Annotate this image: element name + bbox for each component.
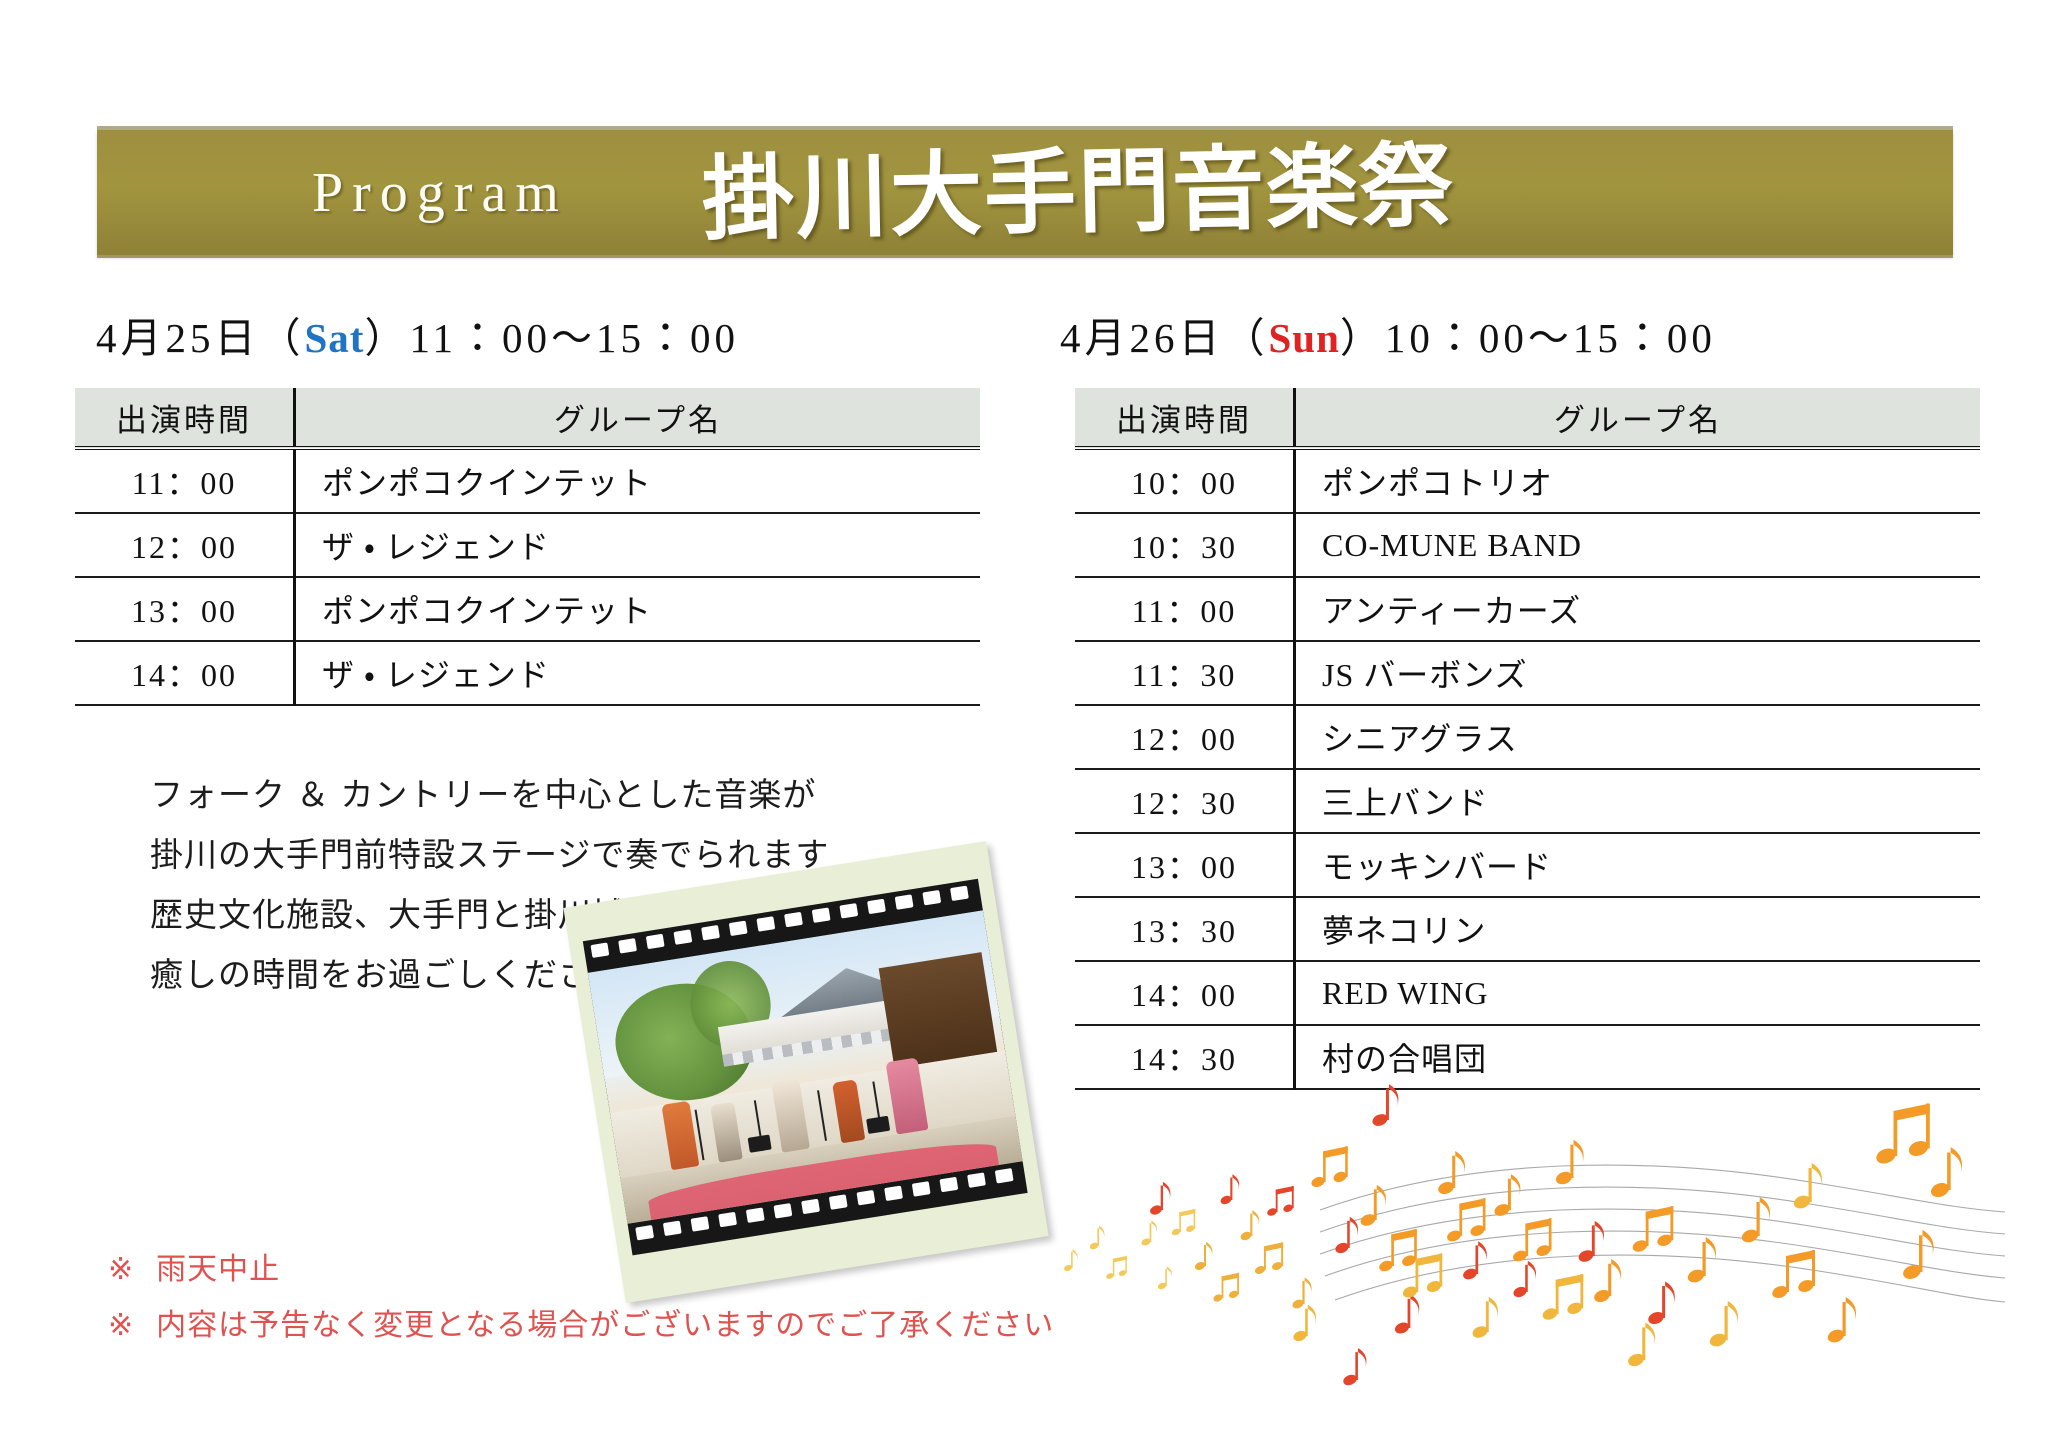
cell-performance-time: 14：00 (75, 641, 295, 705)
table-row: 13：00ポンポコクインテット (75, 577, 980, 641)
date-prefix-sat: 4月25日（ (96, 315, 305, 361)
cell-performance-time: 14：00 (1075, 961, 1295, 1025)
cell-performance-time: 14：30 (1075, 1025, 1295, 1089)
table-row: 11：00ポンポコクインテット (75, 448, 980, 513)
music-notes-decoration (1050, 1060, 2010, 1390)
cell-group-name: ザ ・ レジェンド (295, 513, 981, 577)
date-prefix-sun: 4月26日（ (1060, 315, 1269, 361)
festival-title: 掛川大手門音楽祭 (701, 139, 1455, 245)
cell-group-name: 三上バンド (1295, 769, 1981, 833)
cell-performance-time: 11：30 (1075, 641, 1295, 705)
date-suffix-sun: ）10：00～15：00 (1340, 315, 1716, 361)
date-heading-saturday: 4月25日（Sat）11：00～15：00 (96, 304, 739, 364)
table-row: 13：30夢ネコリン (1075, 897, 1980, 961)
cell-performance-time: 13：30 (1075, 897, 1295, 961)
table-header-row: 出演時間 グループ名 (1075, 388, 1980, 448)
cell-performance-time: 12：00 (1075, 705, 1295, 769)
cell-performance-time: 10：30 (1075, 513, 1295, 577)
cell-performance-time: 10：00 (1075, 448, 1295, 513)
note-mark-icon: ※ (108, 1309, 134, 1342)
col-header-group: グループ名 (295, 388, 981, 448)
table-body-sunday: 10：00ポンポコトリオ10：30CO-MUNE BAND11：00アンティーカ… (1075, 448, 1980, 1089)
cell-performance-time: 13：00 (75, 577, 295, 641)
photo-card (563, 841, 1048, 1303)
table-head-sunday: 出演時間 グループ名 (1075, 388, 1980, 448)
note-text: 内容は予告なく変更となる場合がございますのでご了承ください (156, 1309, 1054, 1342)
note-mark-icon: ※ (108, 1253, 134, 1286)
table-row: 14：00ザ ・ レジェンド (75, 641, 980, 705)
day-of-week-sat: Sat (305, 315, 365, 361)
header-banner: Program 掛川大手門音楽祭 (97, 130, 1953, 255)
col-header-time: 出演時間 (75, 388, 295, 448)
cell-group-name: 夢ネコリン (1295, 897, 1981, 961)
cell-performance-time: 11：00 (1075, 577, 1295, 641)
cell-group-name: モッキンバード (1295, 833, 1981, 897)
table-row: 12：30三上バンド (1075, 769, 1980, 833)
schedule-table-sunday: 出演時間 グループ名 10：00ポンポコトリオ10：30CO-MUNE BAND… (1075, 388, 1980, 1090)
table-head-saturday: 出演時間 グループ名 (75, 388, 980, 448)
table-row: 11：00アンティーカーズ (1075, 577, 1980, 641)
table-row: 12：00シニアグラス (1075, 705, 1980, 769)
table-body-saturday: 11：00ポンポコクインテット12：00ザ ・ レジェンド13：00ポンポコクイ… (75, 448, 980, 705)
description-line: 掛川の大手門前特設ステージで奏でられます (150, 825, 829, 885)
cell-performance-time: 13：00 (1075, 833, 1295, 897)
program-label: Program (312, 161, 568, 225)
table-row: 11：30JS バーボンズ (1075, 641, 1980, 705)
note-line: ※内容は予告なく変更となる場合がございますのでご了承ください (108, 1298, 1054, 1354)
cell-group-name: ポンポコトリオ (1295, 448, 1981, 513)
cell-performance-time: 12：00 (75, 513, 295, 577)
cell-group-name: RED WING (1295, 961, 1981, 1025)
cell-group-name: アンティーカーズ (1295, 577, 1981, 641)
cell-group-name: JS バーボンズ (1295, 641, 1981, 705)
cell-performance-time: 12：30 (1075, 769, 1295, 833)
table-row: 10：00ポンポコトリオ (1075, 448, 1980, 513)
date-heading-sunday: 4月26日（Sun）10：00～15：00 (1060, 304, 1716, 364)
cell-performance-time: 11：00 (75, 448, 295, 513)
schedule-table-saturday: 出演時間 グループ名 11：00ポンポコクインテット12：00ザ ・ レジェンド… (75, 388, 980, 706)
banner-bottom-edge (97, 252, 1953, 258)
table-row: 12：00ザ ・ レジェンド (75, 513, 980, 577)
day-of-week-sun: Sun (1269, 315, 1340, 361)
notes-block: ※雨天中止※内容は予告なく変更となる場合がございますのでご了承ください (108, 1242, 1054, 1354)
music-notes-icon (1050, 1060, 2010, 1390)
table-row: 10：30CO-MUNE BAND (1075, 513, 1980, 577)
stage-photo (563, 841, 1048, 1303)
cell-group-name: 村の合唱団 (1295, 1025, 1981, 1089)
cell-group-name: ポンポコクインテット (295, 448, 981, 513)
cell-group-name: シニアグラス (1295, 705, 1981, 769)
table-row: 13：00モッキンバード (1075, 833, 1980, 897)
film-strip (583, 879, 1028, 1256)
flyer-page: Program 掛川大手門音楽祭 4月25日（Sat）11：00～15：00 4… (0, 0, 2048, 1448)
table-header-row: 出演時間 グループ名 (75, 388, 980, 448)
cell-group-name: ポンポコクインテット (295, 577, 981, 641)
cell-group-name: CO-MUNE BAND (1295, 513, 1981, 577)
table-row: 14：00RED WING (1075, 961, 1980, 1025)
date-suffix-sat: ）11：00～15：00 (364, 315, 738, 361)
description-line: フォーク ＆ カントリーを中心とした音楽が (150, 765, 829, 825)
note-text: 雨天中止 (156, 1253, 280, 1286)
col-header-group: グループ名 (1295, 388, 1981, 448)
col-header-time: 出演時間 (1075, 388, 1295, 448)
cell-group-name: ザ ・ レジェンド (295, 641, 981, 705)
table-row: 14：30村の合唱団 (1075, 1025, 1980, 1089)
